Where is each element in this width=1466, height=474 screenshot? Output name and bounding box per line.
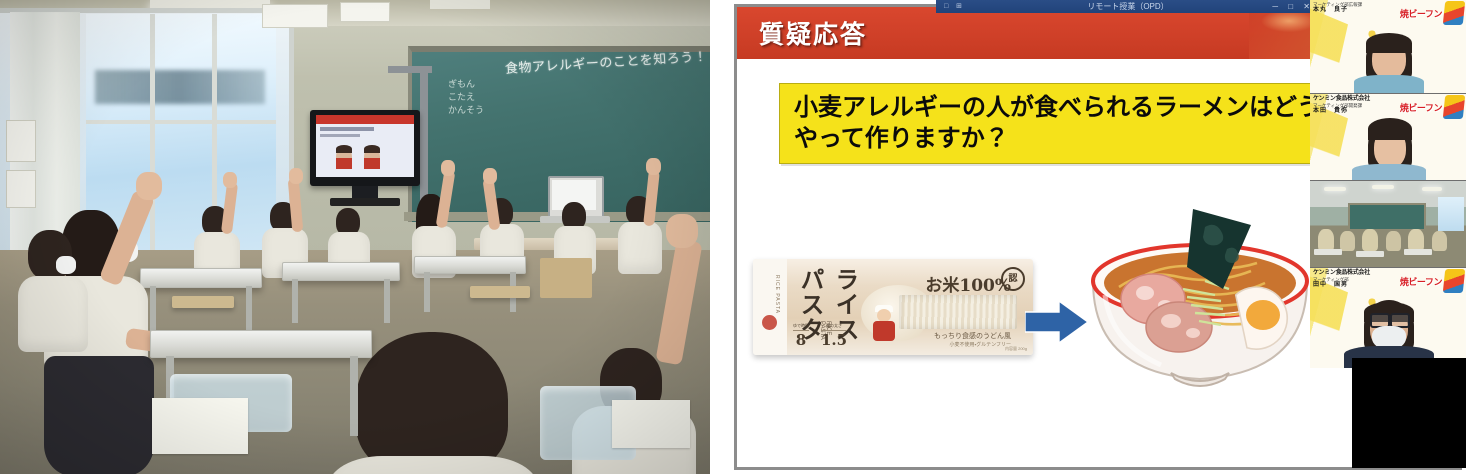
participant-corp: ケンミン食品株式会社 <box>1313 270 1370 277</box>
certification-mark-icon: 認 <box>1001 267 1025 291</box>
student-desk <box>1314 249 1342 255</box>
titlebar-left-buttons[interactable]: □ ⊞ <box>944 0 965 13</box>
classroom-window <box>1438 197 1464 231</box>
package-claim: お米100% <box>925 271 1011 296</box>
package-badge: ゆで時間 8 <box>793 323 809 349</box>
participant-tile-4[interactable]: ケンミン食品株式会社 マーケティング部 田中 国男 焼ビーフン <box>1310 268 1466 368</box>
student-desk <box>1356 251 1384 257</box>
package-caption: もっちり食感のうどん風 <box>934 331 1011 341</box>
pupil <box>1340 231 1355 251</box>
package-badge: 麺の太さ 1.5 <box>821 323 847 349</box>
logo-text: 焼ビーフン <box>1400 101 1442 114</box>
blackboard <box>1348 203 1426 231</box>
logo-mark-icon <box>1443 95 1466 119</box>
badge-value: 1.5 <box>821 331 847 349</box>
brand-logo-icon: 焼ビーフン <box>1400 269 1464 293</box>
ceiling-light <box>1372 185 1394 189</box>
participant-tile-1[interactable]: マーケティング部広報課 本丸 良子 焼ビーフン <box>1310 0 1466 94</box>
pupil <box>1432 231 1447 251</box>
package-footnote: 内容量 200g <box>1005 346 1027 352</box>
brand-logo-icon: 焼ビーフン <box>1400 95 1464 119</box>
slide-header-title: 質疑応答 <box>759 15 867 51</box>
participant-person: 本田 貴弥 <box>1313 108 1370 115</box>
participant-video-strip: マーケティング部広報課 本丸 良子 焼ビーフン ケンミン食品株式会社 マーケティ… <box>1310 0 1466 474</box>
student-desk <box>1404 249 1432 255</box>
badge-label: 麺の太さ <box>821 323 847 331</box>
pupil <box>1318 229 1334 251</box>
pupil <box>1362 229 1378 251</box>
participant-person: 本丸 良子 <box>1313 7 1362 14</box>
question-highlight-box: 小麦アレルギーの人が食べられるラーメンはどうやって作りますか？ <box>779 83 1339 164</box>
window-controls[interactable]: ─ □ ✕ <box>1272 0 1314 13</box>
package-noodle-photo <box>899 295 1017 329</box>
product-package-image: RICE PASTA ライスパスタ RICE PASTA ケンミン お米100%… <box>753 259 1033 355</box>
participant-corp: ケンミン食品株式会社 <box>1313 96 1370 103</box>
app-window-titlebar[interactable]: □ ⊞ リモート授業（OPD） ─ □ ✕ <box>936 0 1320 13</box>
classroom-photograph: 食物アレルギーのことを知ろう！ ぎもん こたえ かんそう <box>0 0 710 474</box>
logo-text: 焼ビーフン <box>1400 7 1442 20</box>
package-caption-sub: 小麦不使用・グルテンフリー <box>949 341 1011 348</box>
package-english-name: RICE PASTA <box>759 275 781 314</box>
pupil <box>1386 231 1401 251</box>
participant-dept: マーケティング部開発課 <box>1313 103 1370 108</box>
badge-label: ゆで時間 <box>793 323 809 331</box>
pupil <box>1408 229 1424 251</box>
badge-value: 8 <box>793 331 809 349</box>
package-seal <box>762 315 777 330</box>
participant-name-overlay: マーケティング部広報課 本丸 良子 <box>1313 2 1362 14</box>
ceiling-light <box>1422 187 1442 191</box>
brand-logo-icon: 焼ビーフン <box>1400 1 1464 25</box>
participant-name-overlay: ケンミン食品株式会社 マーケティング部開発課 本田 貴弥 <box>1313 96 1370 114</box>
photo-vignette <box>0 0 710 474</box>
logo-mark-icon <box>1443 269 1466 293</box>
participant-video-feed <box>1310 290 1466 368</box>
logo-mark-icon <box>1443 1 1466 25</box>
package-badges: ゆで時間 8 麺の太さ 1.5 <box>793 323 847 349</box>
participant-video-feed <box>1310 27 1466 93</box>
participant-tile-2[interactable]: ケンミン食品株式会社 マーケティング部開発課 本田 貴弥 焼ビーフン <box>1310 94 1466 181</box>
app-window-title: リモート授業（OPD） <box>1087 2 1168 11</box>
inactive-video-area <box>1352 358 1466 468</box>
question-text: 小麦アレルギーの人が食べられるラーメンはどうやって作りますか？ <box>794 92 1324 153</box>
ceiling-light <box>1324 187 1346 191</box>
participant-tile-3-classroom[interactable] <box>1310 181 1466 268</box>
logo-text: 焼ビーフン <box>1400 275 1442 288</box>
mascot-icon <box>871 309 897 341</box>
participant-name-overlay: ケンミン食品株式会社 マーケティング部 田中 国男 <box>1313 270 1370 288</box>
participant-person: 田中 国男 <box>1313 282 1370 289</box>
ramen-bowl-illustration <box>1075 203 1325 393</box>
